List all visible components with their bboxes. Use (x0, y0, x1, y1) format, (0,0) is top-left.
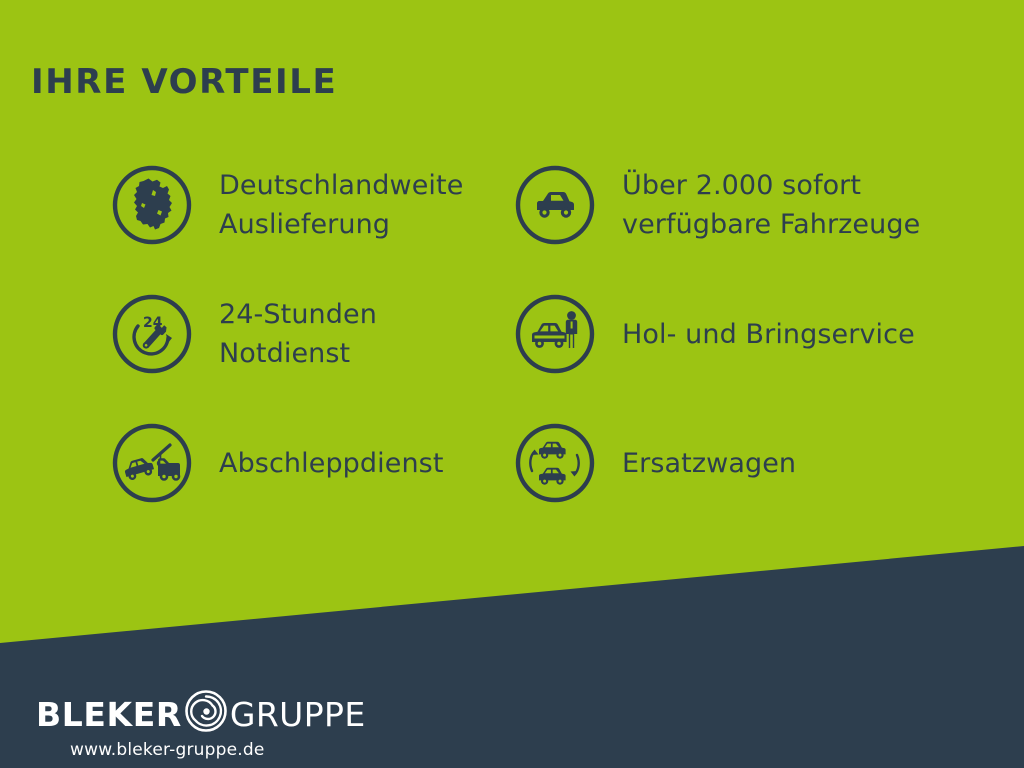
germany-map-icon (112, 165, 192, 245)
benefit-label: Hol- und Bringservice (622, 315, 915, 354)
website-url[interactable]: www.bleker-gruppe.de (70, 740, 366, 760)
logo-word-bleker: BLEKER (36, 698, 182, 731)
footer-branding: BLEKER GRUPPE www.bleker-gruppe.de (36, 692, 366, 760)
benefits-list: Deutschlandweite Auslieferung (0, 160, 1024, 547)
benefit-item-deutschlandweite-auslieferung[interactable]: Deutschlandweite Auslieferung (112, 160, 463, 250)
benefit-label: 24-Stunden Notdienst (219, 295, 377, 373)
benefit-item-24-stunden-notdienst[interactable]: 24 24-Stunden Notdienst (112, 289, 377, 379)
benefit-label: Ersatzwagen (622, 444, 796, 483)
benefit-item-verfuegbare-fahrzeuge[interactable]: Über 2.000 sofort verfügbare Fahrzeuge (515, 160, 920, 250)
benefit-item-ersatzwagen[interactable]: Ersatzwagen (515, 418, 796, 508)
logo-word-gruppe: GRUPPE (230, 698, 366, 731)
car-with-driver-icon (515, 294, 595, 374)
benefit-row: 24 24-Stunden Notdienst (0, 289, 1024, 418)
slide-root: IHRE VORTEILE Deutschlandweite Ausli (0, 0, 1024, 768)
benefit-item-abschleppdienst[interactable]: Abschleppdienst (112, 418, 444, 508)
benefit-row: Deutschlandweite Auslieferung (0, 160, 1024, 289)
benefit-item-hol-und-bringservice[interactable]: Hol- und Bringservice (515, 289, 915, 379)
spiral-swirl-icon (183, 688, 229, 734)
benefit-label: Deutschlandweite Auslieferung (219, 166, 463, 244)
logo[interactable]: BLEKER GRUPPE (36, 692, 366, 736)
benefit-label: Abschleppdienst (219, 444, 444, 483)
two-cars-exchange-icon (515, 423, 595, 503)
tow-truck-icon (112, 423, 192, 503)
page-title: IHRE VORTEILE (31, 62, 337, 102)
benefit-row: Abschleppdienst (0, 418, 1024, 547)
slide-content: IHRE VORTEILE Deutschlandweite Ausli (0, 0, 1024, 768)
clock-wrench-24-icon: 24 (112, 294, 192, 374)
car-icon (515, 165, 595, 245)
benefit-label: Über 2.000 sofort verfügbare Fahrzeuge (622, 166, 920, 244)
